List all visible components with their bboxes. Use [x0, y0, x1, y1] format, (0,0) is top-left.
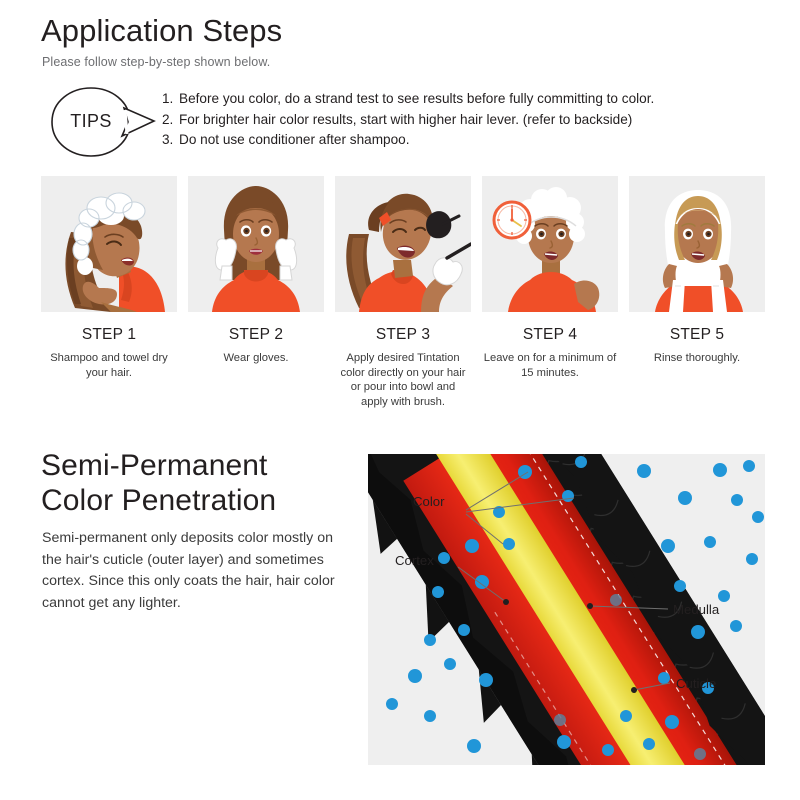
woman-shampooing-hair-illustration: [41, 176, 177, 312]
tip-number: 2.: [162, 110, 179, 131]
tip-text: Before you color, do a strand test to se…: [179, 89, 782, 110]
step-card-3: STEP 3 Apply desired Tintation color dir…: [335, 176, 471, 409]
woman-with-towel-rinsing-illustration: [629, 176, 765, 312]
diagram-label-medulla: Medulla: [673, 602, 719, 617]
page-subtitle: Please follow step-by-step shown below.: [42, 55, 270, 69]
infographic-page: Application Steps Please follow step-by-…: [0, 0, 800, 800]
step-1-desc: Shampoo and towel dry your hair.: [41, 351, 177, 380]
step-3-desc: Apply desired Tintation color directly o…: [335, 351, 471, 409]
step-card-1: STEP 1 Shampoo and towel dry your hair.: [41, 176, 177, 409]
hair-strand-cross-section-diagram: Color Cortex Medulla Cuticle: [368, 454, 765, 765]
section2-body: Semi-permanent only deposits color mostl…: [42, 528, 352, 614]
tip-text: For brighter hair color results, start w…: [179, 110, 782, 131]
step-2-image: [188, 176, 324, 312]
tip-item: 2. For brighter hair color results, star…: [162, 110, 782, 131]
tip-number: 1.: [162, 89, 179, 110]
step-card-4: STEP 4 Leave on for a minimum of 15 minu…: [482, 176, 618, 409]
step-2-title: STEP 2: [188, 326, 324, 344]
step-1-title: STEP 1: [41, 326, 177, 344]
step-3-image: [335, 176, 471, 312]
tip-item: 1. Before you color, do a strand test to…: [162, 89, 782, 110]
tip-text: Do not use conditioner after shampoo.: [179, 130, 782, 151]
step-1-image: [41, 176, 177, 312]
tip-item: 3. Do not use conditioner after shampoo.: [162, 130, 782, 151]
diagram-label-color: Color: [413, 494, 445, 509]
step-5-desc: Rinse thoroughly.: [629, 351, 765, 366]
tip-number: 3.: [162, 130, 179, 151]
woman-with-shower-cap-and-clock-illustration: [482, 176, 618, 312]
step-card-5: STEP 5 Rinse thoroughly.: [629, 176, 765, 409]
section2-title-line2: Color Penetration: [41, 483, 276, 518]
step-3-title: STEP 3: [335, 326, 471, 344]
section2-title-line1: Semi-Permanent: [41, 448, 276, 483]
step-4-image: [482, 176, 618, 312]
application-steps-strip: STEP 1 Shampoo and towel dry your hair.: [41, 176, 763, 409]
page-title: Application Steps: [41, 14, 282, 48]
tips-label: TIPS: [48, 86, 134, 156]
section2-title: Semi-Permanent Color Penetration: [41, 448, 276, 518]
step-4-title: STEP 4: [482, 326, 618, 344]
step-card-2: STEP 2 Wear gloves.: [188, 176, 324, 409]
step-5-title: STEP 5: [629, 326, 765, 344]
step-2-desc: Wear gloves.: [188, 351, 324, 366]
tips-callout: TIPS: [48, 86, 158, 158]
tips-list: 1. Before you color, do a strand test to…: [162, 89, 782, 151]
woman-wearing-white-gloves-illustration: [188, 176, 324, 312]
step-4-desc: Leave on for a minimum of 15 minutes.: [482, 351, 618, 380]
step-5-image: [629, 176, 765, 312]
diagram-label-cortex: Cortex: [395, 553, 434, 568]
diagram-label-cuticle: Cuticle: [676, 676, 716, 691]
woman-applying-color-with-brush-illustration: [335, 176, 471, 312]
